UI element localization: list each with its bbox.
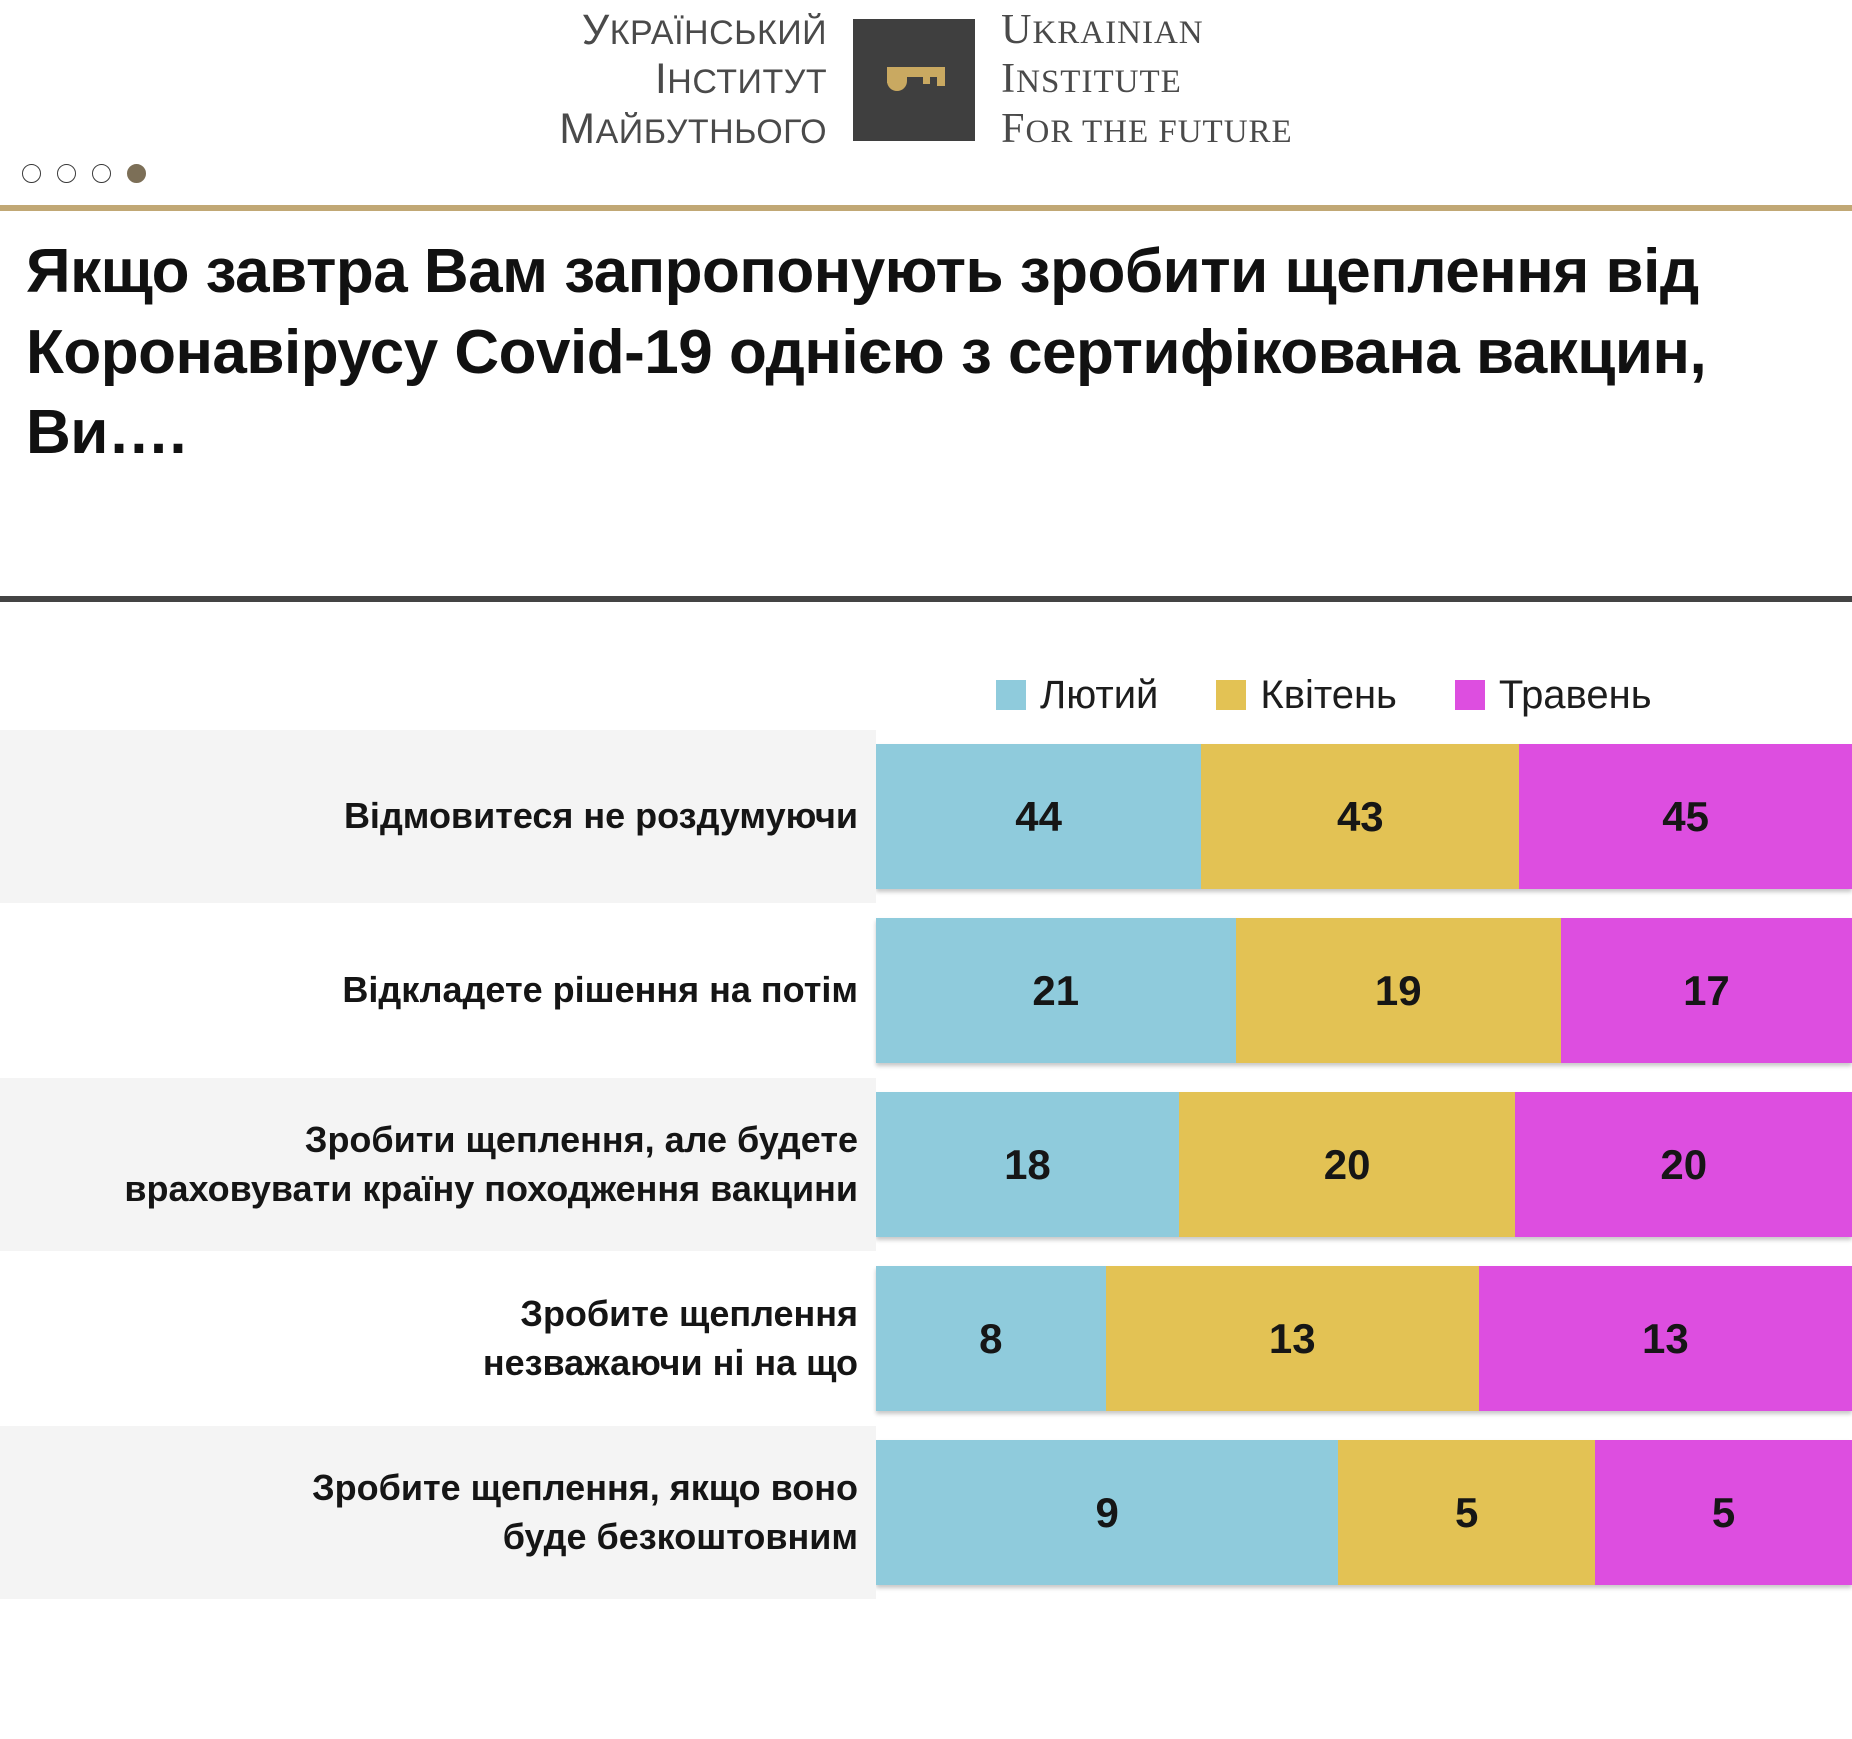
- chart-row: Зробите щепленнянезважаючи ні на що81313: [0, 1266, 1852, 1411]
- chart-row-label-line: Зробите щеплення: [520, 1290, 858, 1339]
- legend-swatch-traven: [1455, 680, 1485, 710]
- stacked-bar-chart: Лютий Квітень Травень Відмовитеся не роз…: [0, 660, 1852, 1614]
- chart-row-label: Зробите щепленнянезважаючи ні на що: [0, 1266, 876, 1411]
- page-title: Якщо завтра Вам запропонують зробити щеп…: [26, 232, 1726, 474]
- bar-segment-травень: 5: [1595, 1440, 1852, 1585]
- bar-segment-квітень: 13: [1106, 1266, 1479, 1411]
- chart-legend: Лютий Квітень Травень: [0, 660, 1852, 730]
- logo-mark: [853, 19, 975, 141]
- bar-segment-квітень: 5: [1338, 1440, 1595, 1585]
- chart-row-label-line: Зробити щеплення, але будете: [305, 1116, 858, 1165]
- bar-segment-квітень: 20: [1179, 1092, 1516, 1237]
- bar-segment-лютий: 9: [876, 1440, 1338, 1585]
- legend-label-traven: Травень: [1499, 673, 1652, 718]
- chart-row-label: Зробити щеплення, але будетевраховувати …: [0, 1092, 876, 1237]
- stacked-bar: 211917: [876, 918, 1852, 1063]
- bar-segment-квітень: 19: [1236, 918, 1561, 1063]
- legend-label-lyutiy: Лютий: [1040, 673, 1158, 718]
- pagination-dot-1[interactable]: [22, 164, 41, 183]
- bar-segment-травень: 45: [1519, 744, 1852, 889]
- legend-item-traven[interactable]: Травень: [1455, 673, 1652, 718]
- chart-row-label: Зробите щеплення, якщо вонобуде безкошто…: [0, 1440, 876, 1585]
- bar-segment-лютий: 21: [876, 918, 1236, 1063]
- bar-segment-квітень: 43: [1201, 744, 1519, 889]
- chart-row-label: Відмовитеся не роздумуючи: [0, 744, 876, 889]
- chart-row: Відмовитеся не роздумуючи444345: [0, 744, 1852, 889]
- stacked-bar: 444345: [876, 744, 1852, 889]
- chart-row-label-line: Відкладете рішення на потім: [342, 966, 858, 1015]
- stacked-bar: 182020: [876, 1092, 1852, 1237]
- pagination-dot-3[interactable]: [92, 164, 111, 183]
- chart-row-label-line: буде безкоштовним: [503, 1513, 858, 1562]
- logo-ua-line-1: Український: [582, 6, 827, 55]
- bar-segment-травень: 20: [1515, 1092, 1852, 1237]
- logo-en-line-3: for the Future: [1001, 105, 1293, 155]
- chart-row-label-line: враховувати країну походження вакцини: [124, 1165, 858, 1214]
- legend-label-kviten: Квітень: [1260, 673, 1396, 718]
- legend-swatch-kviten: [1216, 680, 1246, 710]
- logo-text-ukrainian: Український Інститут Майбутнього: [559, 15, 853, 145]
- chart-row: Відкладете рішення на потім211917: [0, 918, 1852, 1063]
- chart-row: Зробити щеплення, але будетевраховувати …: [0, 1092, 1852, 1237]
- logo: Український Інститут Майбутнього Ukraini…: [559, 15, 1292, 145]
- chart-row: Зробите щеплення, якщо вонобуде безкошто…: [0, 1440, 1852, 1585]
- bar-segment-лютий: 44: [876, 744, 1201, 889]
- legend-item-lyutiy[interactable]: Лютий: [996, 673, 1158, 718]
- stacked-bar: 955: [876, 1440, 1852, 1585]
- legend-item-kviten[interactable]: Квітень: [1216, 673, 1396, 718]
- pagination-dot-2[interactable]: [57, 164, 76, 183]
- pagination-dot-4-active[interactable]: [127, 164, 146, 183]
- logo-ua-line-2: Інститут: [655, 55, 827, 104]
- bar-segment-травень: 17: [1561, 918, 1852, 1063]
- chart-row-label-line: Зробите щеплення, якщо воно: [312, 1464, 858, 1513]
- gold-divider: [0, 205, 1852, 211]
- chart-row-label-line: Відмовитеся не роздумуючи: [344, 792, 858, 841]
- logo-en-line-1: Ukrainian: [1001, 6, 1204, 56]
- legend-swatch-lyutiy: [996, 680, 1026, 710]
- chart-row-label-line: незважаючи ні на що: [483, 1339, 858, 1388]
- logo-ua-line-3: Майбутнього: [559, 105, 827, 154]
- pagination-dots[interactable]: [22, 164, 146, 183]
- stacked-bar: 81313: [876, 1266, 1852, 1411]
- dark-divider: [0, 596, 1852, 602]
- bar-segment-лютий: 8: [876, 1266, 1106, 1411]
- bar-segment-лютий: 18: [876, 1092, 1179, 1237]
- logo-text-english: Ukrainian Institute for the Future: [975, 15, 1293, 145]
- brand-header: Український Інститут Майбутнього Ukraini…: [0, 0, 1852, 160]
- bar-segment-травень: 13: [1479, 1266, 1852, 1411]
- logo-en-line-2: Institute: [1001, 55, 1182, 105]
- chart-row-label: Відкладете рішення на потім: [0, 918, 876, 1063]
- chart-rows: Відмовитеся не роздумуючи444345Відкладет…: [0, 744, 1852, 1585]
